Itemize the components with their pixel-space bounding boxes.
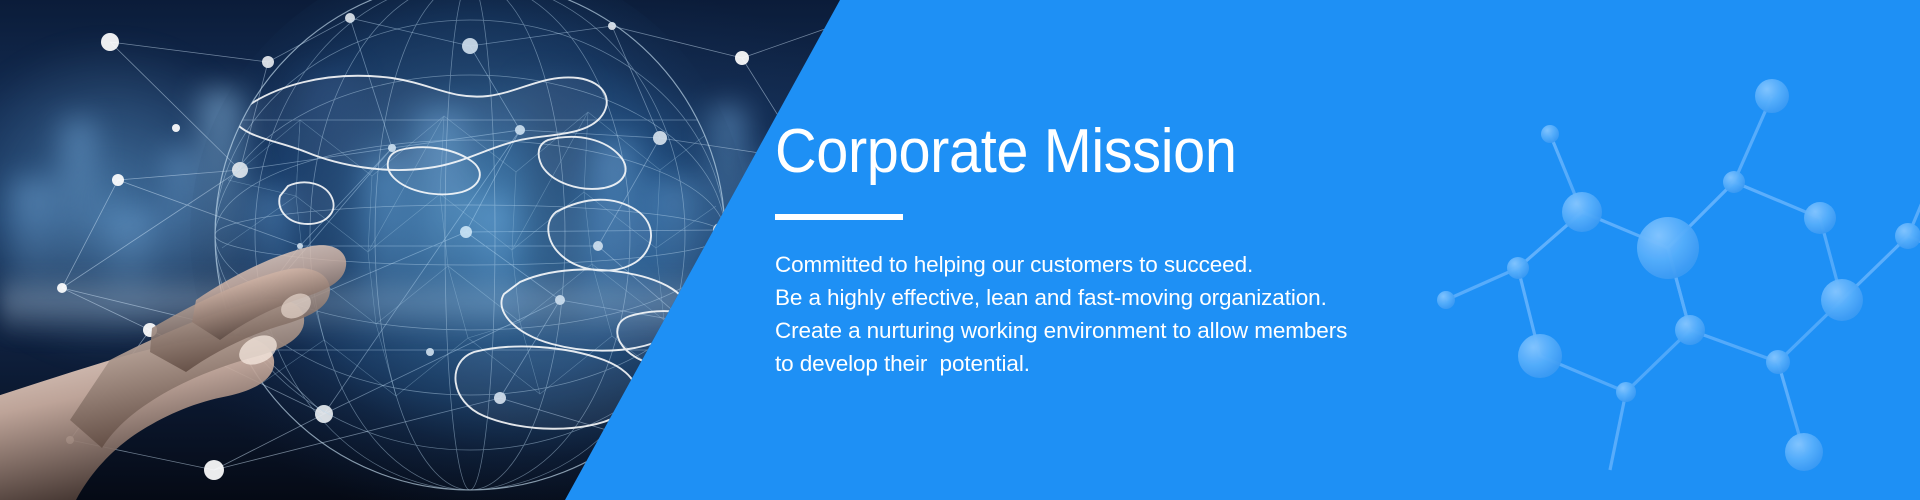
mission-statement-line: Create a nurturing working environment t…	[775, 314, 1347, 347]
mission-statement-line: Committed to helping our customers to su…	[775, 248, 1347, 281]
page-title: Corporate Mission	[775, 120, 1307, 183]
corporate-mission-banner: Corporate Mission Committed to helping o…	[0, 0, 1920, 500]
mission-content: Corporate Mission Committed to helping o…	[775, 0, 1347, 500]
mission-statement-line: Be a highly effective, lean and fast-mov…	[775, 281, 1347, 314]
mission-statement-line: to develop their potential.	[775, 347, 1347, 380]
title-underline-divider	[775, 214, 903, 220]
mission-statement-list: Committed to helping our customers to su…	[775, 248, 1347, 380]
